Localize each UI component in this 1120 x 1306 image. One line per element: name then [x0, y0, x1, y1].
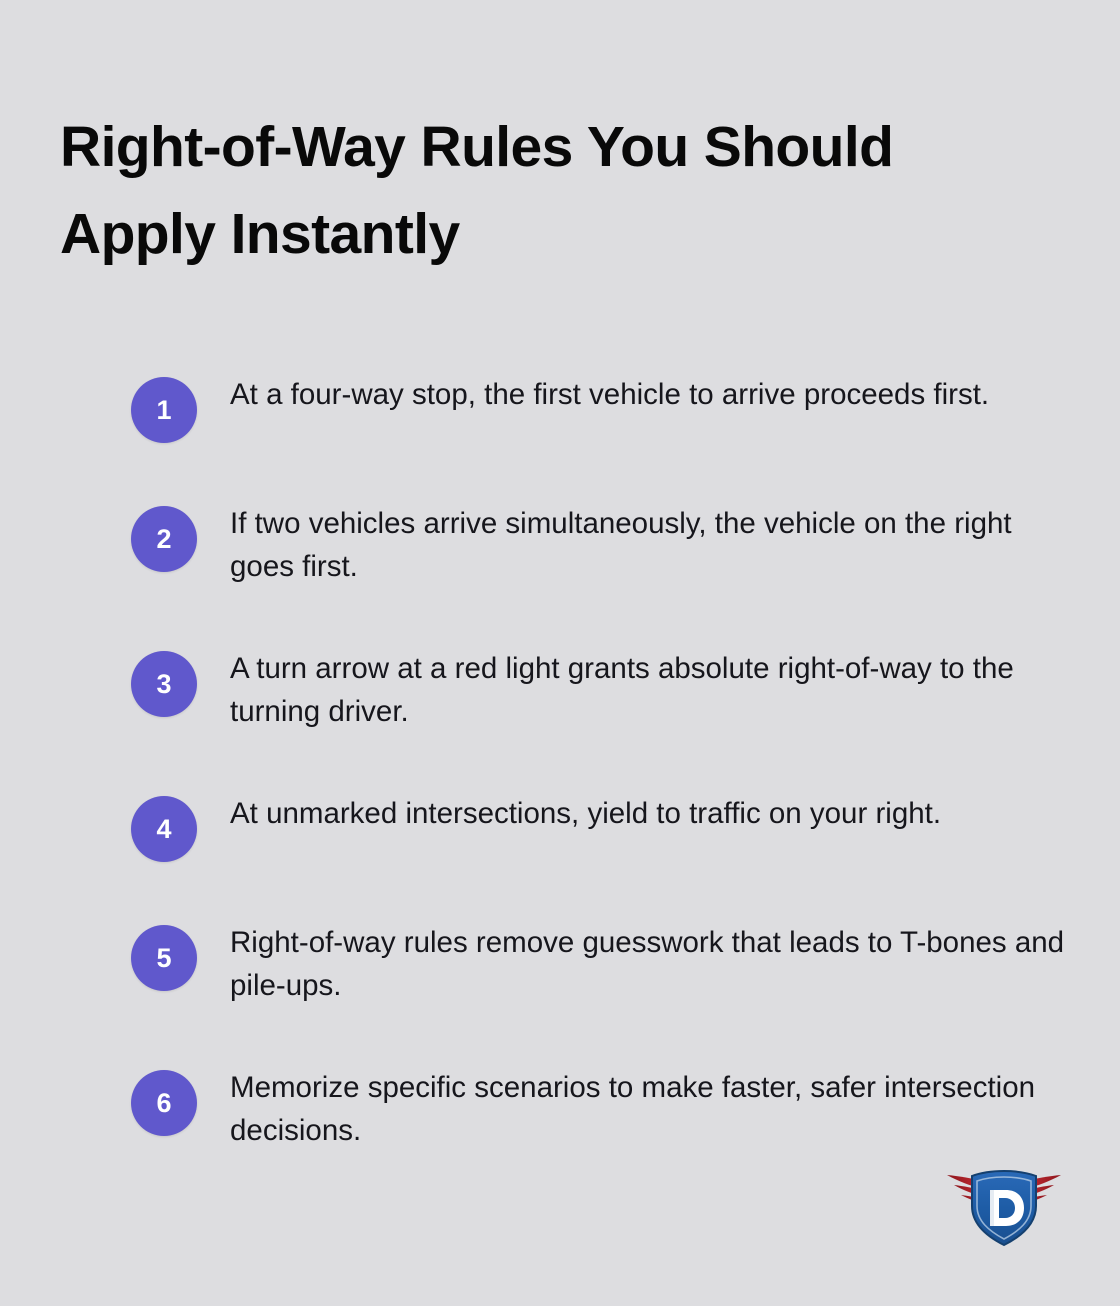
shield-icon: [972, 1171, 1036, 1245]
page-title: Right-of-Way Rules You Should Apply Inst…: [60, 104, 1060, 277]
list-item: 6 Memorize specific scenarios to make fa…: [131, 1066, 1071, 1152]
rule-text: A turn arrow at a red light grants absol…: [230, 647, 1070, 733]
rule-number-label: 5: [156, 943, 171, 974]
rule-text: If two vehicles arrive simultaneously, t…: [230, 502, 1070, 588]
rule-number-label: 1: [156, 395, 171, 426]
list-item: 3 A turn arrow at a red light grants abs…: [131, 647, 1071, 733]
rule-text: Right-of-way rules remove guesswork that…: [230, 921, 1070, 1007]
list-item: 2 If two vehicles arrive simultaneously,…: [131, 502, 1071, 588]
rule-text: At a four-way stop, the first vehicle to…: [230, 373, 1070, 416]
list-item: 1 At a four-way stop, the first vehicle …: [131, 373, 1071, 443]
rule-number-badge: 1: [131, 377, 197, 443]
rules-list: 1 At a four-way stop, the first vehicle …: [131, 373, 1071, 1152]
rule-number-label: 3: [156, 669, 171, 700]
brand-logo: [944, 1166, 1064, 1250]
rule-number-badge: 2: [131, 506, 197, 572]
rule-number-label: 4: [156, 814, 171, 845]
rule-number-label: 6: [156, 1088, 171, 1119]
rule-number-badge: 3: [131, 651, 197, 717]
infographic-canvas: Right-of-Way Rules You Should Apply Inst…: [0, 0, 1120, 1306]
rule-text: At unmarked intersections, yield to traf…: [230, 792, 1070, 835]
rule-number-badge: 4: [131, 796, 197, 862]
rule-number-badge: 6: [131, 1070, 197, 1136]
rule-number-badge: 5: [131, 925, 197, 991]
rule-number-label: 2: [156, 524, 171, 555]
rule-text: Memorize specific scenarios to make fast…: [230, 1066, 1070, 1152]
list-item: 4 At unmarked intersections, yield to tr…: [131, 792, 1071, 862]
list-item: 5 Right-of-way rules remove guesswork th…: [131, 921, 1071, 1007]
